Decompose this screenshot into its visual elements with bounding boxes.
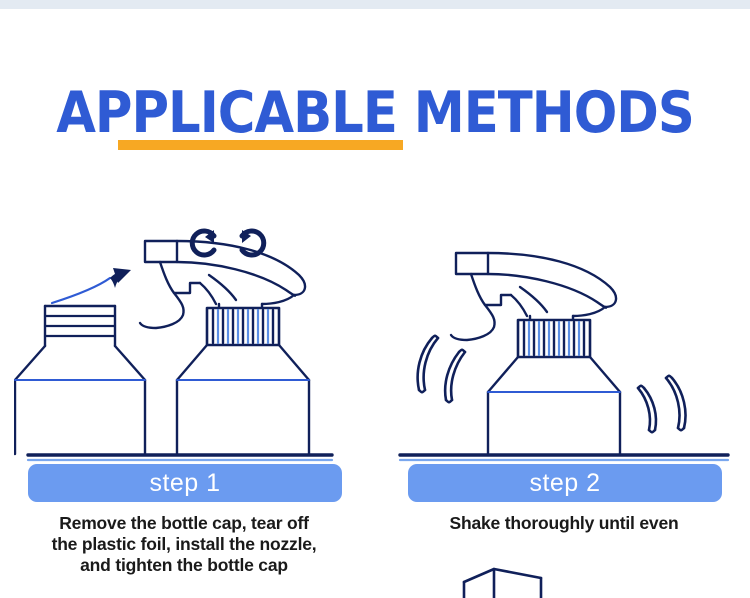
nozzle-collar-icon (518, 320, 590, 357)
spray-bottle-body (488, 357, 620, 454)
shake-motion-left-icon (418, 336, 465, 403)
peel-arrow-icon (52, 278, 110, 303)
caption-line: the plastic foil, install the nozzle, (14, 534, 354, 555)
title-inner: APPLICABLE METHODS (56, 82, 694, 144)
step-panel-2: step 2 Shake thoroughly until even (394, 200, 734, 598)
open-bottle (15, 306, 145, 454)
spray-bottle-body (177, 345, 309, 454)
bottle-threads-icon (45, 316, 115, 336)
step-2-button[interactable]: step 2 (408, 464, 722, 502)
caption-line: Shake thoroughly until even (394, 513, 734, 534)
step-1-button[interactable]: step 1 (28, 464, 342, 502)
rotate-icon-arrowheads (205, 230, 251, 243)
page-title: APPLICABLE METHODS (0, 82, 750, 154)
shake-motion-right-icon (638, 376, 686, 433)
step-1-caption: Remove the bottle cap, tear off the plas… (14, 513, 354, 576)
caption-line: Remove the bottle cap, tear off (14, 513, 354, 534)
top-band (0, 0, 750, 9)
step-2-caption: Shake thoroughly until even (394, 513, 734, 534)
step-panel-1: step 1 Remove the bottle cap, tear off t… (14, 200, 354, 598)
caption-line: and tighten the bottle cap (14, 555, 354, 576)
partial-box-outline (464, 569, 541, 598)
nozzle-collar-icon (207, 308, 279, 345)
title-text: APPLICABLE METHODS (56, 80, 694, 146)
page-root: APPLICABLE METHODS (0, 0, 750, 598)
step-1-illustration (14, 200, 354, 462)
next-step-partial-illustration (394, 560, 734, 598)
step-2-illustration (394, 200, 734, 462)
peel-arrow-head (110, 268, 131, 288)
